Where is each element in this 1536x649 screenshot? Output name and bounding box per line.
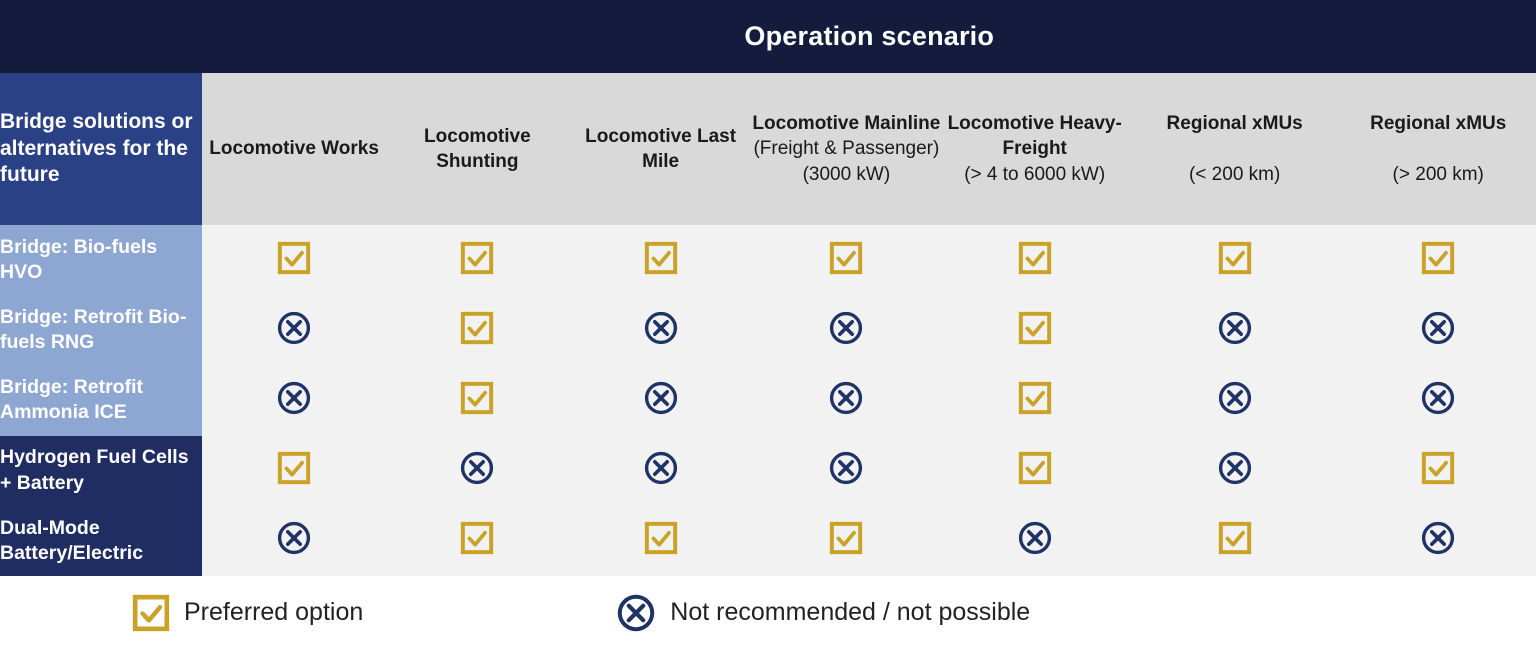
row-label: Bridge: Retrofit Bio-fuels RNG [0,295,202,365]
circle-cross-icon [1420,310,1456,346]
circle-cross-icon [616,593,656,633]
comparison-matrix-figure: Operation scenario Bridge solutions or a… [0,0,1536,649]
column-header-locomotive-last-mile: Locomotive Last Mile [569,73,752,225]
column-header-regional-xmus-short: Regional xMUs (< 200 km) [1129,73,1341,225]
column-header-main: Locomotive Mainline [752,111,940,136]
cell-preferred [386,506,569,576]
cell-not-recommended [1129,365,1341,435]
circle-cross-icon [276,310,312,346]
cell-not-recommended [752,365,940,435]
cell-not-recommended [569,436,752,506]
cell-not-recommended [1129,436,1341,506]
circle-cross-icon [1420,380,1456,416]
column-header-main: Locomotive Works [202,136,385,161]
cell-preferred [1340,225,1536,295]
check-box-icon [644,241,678,275]
column-header-regional-xmus-long: Regional xMUs (> 200 km) [1340,73,1536,225]
legend-label-not-recommended: Not recommended / not possible [670,598,1030,627]
cell-preferred [941,436,1129,506]
circle-cross-icon [1217,310,1253,346]
check-box-icon [1421,451,1455,485]
cell-not-recommended [1340,295,1536,365]
cell-preferred [1129,506,1341,576]
circle-cross-icon [828,310,864,346]
cell-not-recommended [1129,295,1341,365]
column-header-locomotive-mainline: Locomotive Mainline (Freight & Passenger… [752,73,940,225]
column-header-locomotive-works: Locomotive Works [202,73,385,225]
column-header-sub: (< 200 km) [1129,162,1341,187]
row-label: Hydrogen Fuel Cells + Battery [0,436,202,506]
bridge-solutions-matrix: Operation scenario Bridge solutions or a… [0,0,1536,576]
circle-cross-icon [828,450,864,486]
cell-preferred [1340,436,1536,506]
cell-not-recommended [941,506,1129,576]
cell-not-recommended [752,295,940,365]
circle-cross-icon [1217,450,1253,486]
cell-not-recommended [1340,365,1536,435]
cell-preferred [386,225,569,295]
row-label: Bridge: Bio-fuels HVO [0,225,202,295]
circle-cross-icon [276,380,312,416]
column-header-sub: (> 200 km) [1340,162,1536,187]
circle-cross-icon [1217,380,1253,416]
check-box-icon [1018,311,1052,345]
circle-cross-icon [643,310,679,346]
column-header-locomotive-shunting: Locomotive Shunting [386,73,569,225]
column-header-main: Regional xMUs [1129,111,1341,136]
cell-not-recommended [569,365,752,435]
circle-cross-icon [459,450,495,486]
column-header-main: Locomotive Last Mile [569,124,752,174]
row-label: Bridge: Retrofit Ammonia ICE [0,365,202,435]
cell-not-recommended [386,436,569,506]
table-row: Bridge: Retrofit Ammonia ICE [0,365,1536,435]
circle-cross-icon [1017,520,1053,556]
legend: Preferred option Not recommended / not p… [0,576,1536,649]
column-header-sub: (> 4 to 6000 kW) [941,162,1129,187]
column-header-main: Regional xMUs [1340,111,1536,136]
cell-preferred [941,365,1129,435]
check-box-icon [460,311,494,345]
check-box-icon [1218,241,1252,275]
circle-cross-icon [643,450,679,486]
column-header-sub: (Freight & Passenger) (3000 kW) [752,136,940,186]
cell-preferred [1129,225,1341,295]
corner-header: Bridge solutions or alternatives for the… [0,73,202,225]
check-box-icon [644,521,678,555]
check-box-icon [829,521,863,555]
table-row: Dual-Mode Battery/Electric [0,506,1536,576]
column-header-locomotive-heavy-freight: Locomotive Heavy-Freight (> 4 to 6000 kW… [941,73,1129,225]
check-box-icon [277,241,311,275]
column-header-spacer [1340,136,1536,162]
table-head: Operation scenario Bridge solutions or a… [0,0,1536,225]
check-box-icon [132,594,170,632]
cell-preferred [386,365,569,435]
legend-item-preferred: Preferred option [132,594,363,632]
cell-preferred [941,295,1129,365]
cell-preferred [386,295,569,365]
legend-item-not-recommended: Not recommended / not possible [616,593,1030,633]
check-box-icon [1018,451,1052,485]
cell-not-recommended [752,436,940,506]
row-label: Dual-Mode Battery/Electric [0,506,202,576]
cell-not-recommended [569,295,752,365]
check-box-icon [1218,521,1252,555]
check-box-icon [277,451,311,485]
cell-not-recommended [202,506,385,576]
cell-not-recommended [1340,506,1536,576]
cell-not-recommended [202,365,385,435]
cell-preferred [202,436,385,506]
check-box-icon [1421,241,1455,275]
table-row: Bridge: Bio-fuels HVO [0,225,1536,295]
cell-preferred [752,225,940,295]
cell-preferred [752,506,940,576]
check-box-icon [1018,241,1052,275]
table-row: Hydrogen Fuel Cells + Battery [0,436,1536,506]
legend-label-preferred: Preferred option [184,598,363,627]
column-header-main: Locomotive Shunting [386,124,569,174]
banner-blank-cell [0,0,202,73]
check-box-icon [460,381,494,415]
check-box-icon [1018,381,1052,415]
check-box-icon [460,241,494,275]
column-header-row: Bridge solutions or alternatives for the… [0,73,1536,225]
cell-not-recommended [202,295,385,365]
circle-cross-icon [828,380,864,416]
circle-cross-icon [1420,520,1456,556]
cell-preferred [569,506,752,576]
column-header-spacer [1129,136,1341,162]
circle-cross-icon [276,520,312,556]
cell-preferred [569,225,752,295]
banner-title: Operation scenario [202,0,1536,73]
check-box-icon [829,241,863,275]
banner-row: Operation scenario [0,0,1536,73]
check-box-icon [460,521,494,555]
column-header-main: Locomotive Heavy-Freight [941,111,1129,161]
cell-preferred [941,225,1129,295]
cell-preferred [202,225,385,295]
table-row: Bridge: Retrofit Bio-fuels RNG [0,295,1536,365]
table-body: Bridge: Bio-fuels HVOBridge: Retrofit Bi… [0,225,1536,576]
circle-cross-icon [643,380,679,416]
